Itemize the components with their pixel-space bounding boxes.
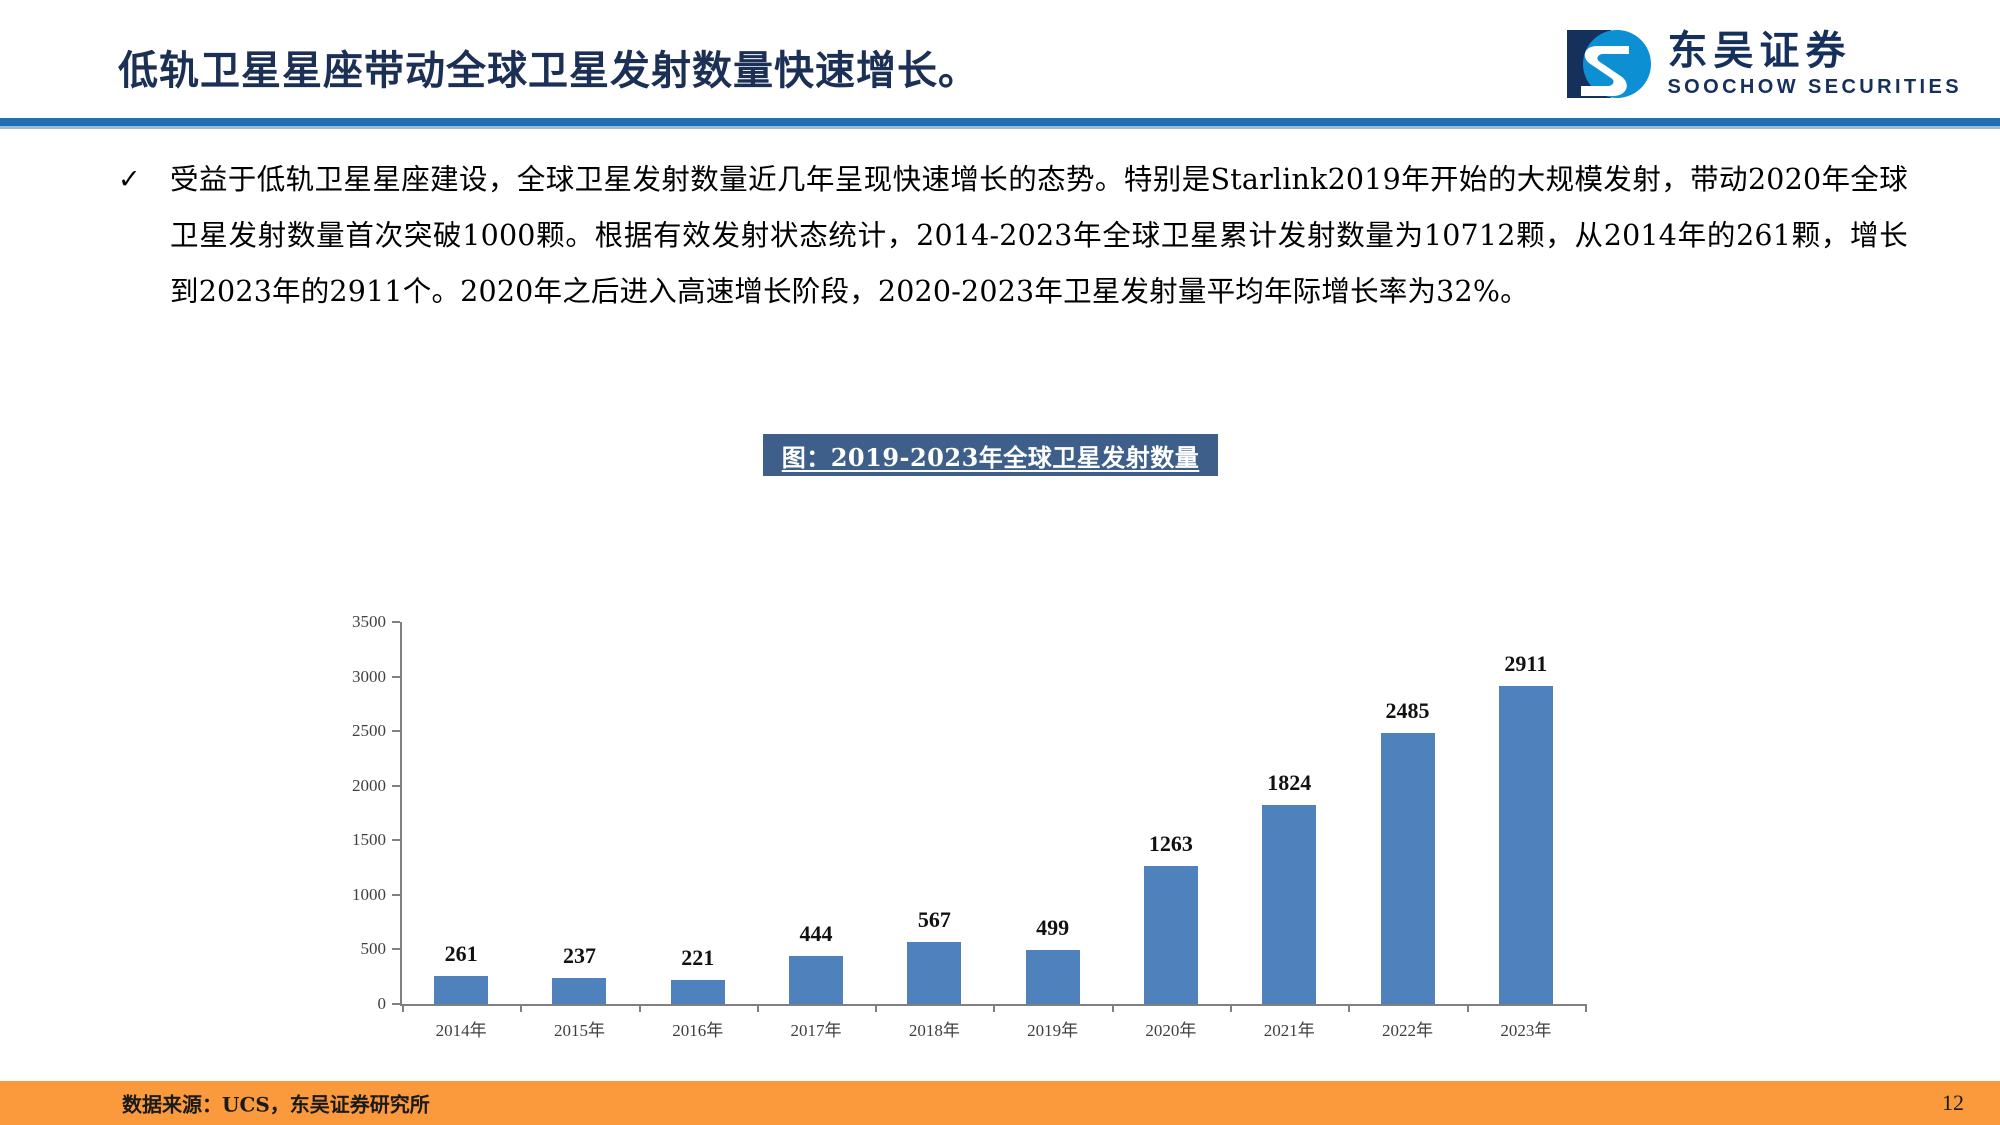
bar[interactable]: 261	[434, 976, 488, 1004]
x-tick-mark	[520, 1004, 522, 1012]
bullet-paragraph-text: 受益于低轨卫星星座建设，全球卫星发射数量近几年呈现快速增长的态势。特别是Star…	[170, 152, 1908, 320]
y-tick-mark	[392, 676, 400, 678]
bar[interactable]: 444	[789, 956, 843, 1004]
y-tick-mark	[392, 894, 400, 896]
bar-value-label: 237	[563, 943, 596, 969]
logo-name-en: SOOCHOW SECURITIES	[1667, 75, 1962, 99]
x-tick-mark	[402, 1004, 404, 1012]
x-axis-label: 2019年	[993, 1016, 1111, 1041]
chart-title-banner: 图：2019-2023年全球卫星发射数量	[763, 434, 1218, 476]
body-content: ✓ 受益于低轨卫星星座建设，全球卫星发射数量近几年呈现快速增长的态势。特别是St…	[118, 152, 1908, 320]
chart-title-label: 图：2019-2023年全球卫星发射数量	[782, 438, 1200, 473]
x-axis-label: 2017年	[757, 1016, 875, 1041]
x-axis-label: 2023年	[1467, 1016, 1585, 1041]
header-divider-secondary	[0, 126, 2000, 129]
y-tick-mark	[392, 730, 400, 732]
y-tick-label: 1000	[352, 885, 386, 905]
bar-slot: 444	[757, 622, 875, 1004]
bar-slot: 237	[520, 622, 638, 1004]
bar-slot: 261	[402, 622, 520, 1004]
logo-name-cn: 东吴证券	[1667, 30, 1962, 72]
bar-value-label: 1263	[1149, 831, 1193, 857]
bar-slot: 2485	[1348, 622, 1466, 1004]
y-tick-mark	[392, 621, 400, 623]
x-axis-labels: 2014年2015年2016年2017年2018年2019年2020年2021年…	[402, 1016, 1585, 1041]
bar[interactable]: 567	[907, 942, 961, 1004]
x-tick-mark	[1467, 1004, 1469, 1012]
page-title: 低轨卫星星座带动全球卫星发射数量快速增长。	[118, 38, 979, 96]
y-tick-mark	[392, 948, 400, 950]
header-divider	[0, 118, 2000, 126]
x-tick-mark	[1230, 1004, 1232, 1012]
x-axis-label: 2015年	[520, 1016, 638, 1041]
bar-slot: 221	[639, 622, 757, 1004]
x-tick-mark	[639, 1004, 641, 1012]
x-axis-label: 2022年	[1348, 1016, 1466, 1041]
bar-value-label: 2485	[1386, 698, 1430, 724]
y-tick-label: 2500	[352, 721, 386, 741]
y-tick-label: 0	[378, 994, 387, 1014]
y-tick-mark	[392, 1003, 400, 1005]
bar[interactable]: 499	[1026, 950, 1080, 1004]
x-tick-mark	[1348, 1004, 1350, 1012]
y-tick-mark	[392, 839, 400, 841]
bar-value-label: 2911	[1504, 651, 1547, 677]
x-tick-mark	[993, 1004, 995, 1012]
company-logo: 东吴证券 SOOCHOW SECURITIES	[1567, 24, 1962, 104]
x-axis-label: 2020年	[1112, 1016, 1230, 1041]
soochow-logo-mark	[1567, 26, 1653, 102]
bar-series: 2612372214445674991263182424852911	[402, 622, 1585, 1004]
bar-value-label: 444	[800, 921, 833, 947]
y-tick-label: 1500	[352, 830, 386, 850]
bar-value-label: 1824	[1267, 770, 1311, 796]
y-tick-label: 3000	[352, 667, 386, 687]
x-axis-label: 2021年	[1230, 1016, 1348, 1041]
bar[interactable]: 1824	[1262, 805, 1316, 1004]
logo-wordmark: 东吴证券 SOOCHOW SECURITIES	[1667, 30, 1962, 99]
bar-value-label: 567	[918, 907, 951, 933]
slide-footer: 数据来源：UCS，东吴证券研究所 12	[0, 1081, 2000, 1125]
x-axis-label: 2014年	[402, 1016, 520, 1041]
x-axis-label: 2016年	[639, 1016, 757, 1041]
bar-slot: 499	[993, 622, 1111, 1004]
slide-header: 低轨卫星星座带动全球卫星发射数量快速增长。 东吴证券 SOOCHOW SECUR…	[0, 0, 2000, 128]
bar-slot: 1263	[1112, 622, 1230, 1004]
bar-chart: 0500100015002000250030003500 26123722144…	[300, 600, 1700, 1070]
bar-value-label: 261	[445, 941, 478, 967]
x-tick-mark	[875, 1004, 877, 1012]
bar-value-label: 499	[1036, 915, 1069, 941]
page-number: 12	[1942, 1090, 1964, 1116]
bar[interactable]: 221	[671, 980, 725, 1004]
x-tick-mark	[757, 1004, 759, 1012]
x-axis-label: 2018年	[875, 1016, 993, 1041]
bar-slot: 2911	[1467, 622, 1585, 1004]
y-tick-label: 3500	[352, 612, 386, 632]
bar-slot: 1824	[1230, 622, 1348, 1004]
data-source-label: 数据来源：UCS，东吴证券研究所	[122, 1089, 430, 1118]
x-tick-mark	[1112, 1004, 1114, 1012]
bar[interactable]: 237	[552, 978, 606, 1004]
bar[interactable]: 1263	[1144, 866, 1198, 1004]
bar[interactable]: 2911	[1499, 686, 1553, 1004]
bullet-paragraph: ✓ 受益于低轨卫星星座建设，全球卫星发射数量近几年呈现快速增长的态势。特别是St…	[118, 152, 1908, 320]
x-tick-mark	[1585, 1004, 1587, 1012]
bar-slot: 567	[875, 622, 993, 1004]
bar-value-label: 221	[681, 945, 714, 971]
y-tick-mark	[392, 785, 400, 787]
y-tick-label: 500	[361, 939, 387, 959]
check-icon: ✓	[118, 152, 170, 208]
y-tick-label: 2000	[352, 776, 386, 796]
bar[interactable]: 2485	[1381, 733, 1435, 1004]
